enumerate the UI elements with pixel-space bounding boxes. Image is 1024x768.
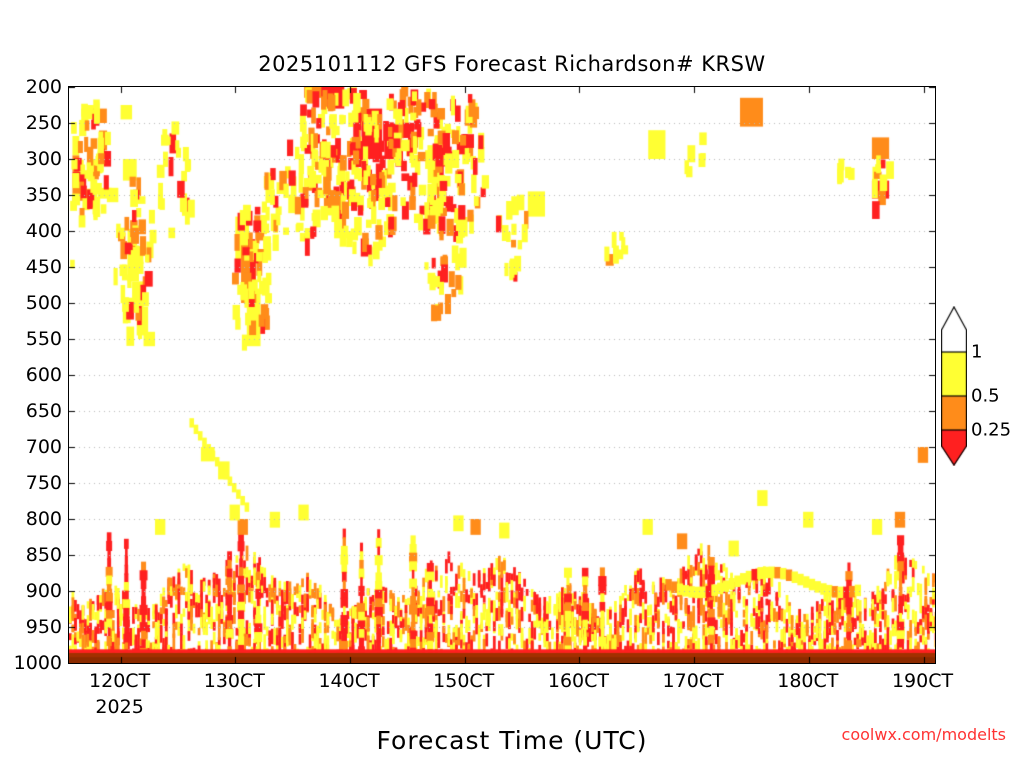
x-tick-label: 180CT — [777, 670, 838, 692]
colorbar-tick-label: 0.5 — [971, 386, 1000, 407]
x-axis-year-label: 2025 — [95, 696, 143, 718]
plot-area — [68, 86, 936, 664]
y-tick-label: 200 — [26, 76, 62, 98]
y-tick-label: 850 — [26, 544, 62, 566]
y-tick-label: 250 — [26, 112, 62, 134]
colorbar-tick-label: 1 — [971, 342, 982, 363]
y-tick-label: 500 — [26, 292, 62, 314]
y-tick-label: 700 — [26, 436, 62, 458]
y-tick-label: 800 — [26, 508, 62, 530]
y-tick-label: 750 — [26, 472, 62, 494]
y-tick-label: 600 — [26, 364, 62, 386]
x-tick-label: 130CT — [204, 670, 265, 692]
colorbar-canvas — [941, 306, 967, 466]
y-tick-label: 550 — [26, 328, 62, 350]
x-tick-label: 190CT — [892, 670, 953, 692]
y-tick-label: 650 — [26, 400, 62, 422]
x-tick-label: 150CT — [433, 670, 494, 692]
x-tick-label: 170CT — [663, 670, 724, 692]
watermark: coolwx.com/modelts — [842, 725, 1006, 744]
y-tick-label: 400 — [26, 220, 62, 242]
colorbar-tick-label: 0.25 — [971, 420, 1011, 441]
chart-page: 2025101112 GFS Forecast Richardson# KRSW… — [0, 0, 1024, 768]
colorbar: 10.50.25 — [941, 306, 967, 466]
x-tick-label: 140CT — [318, 670, 379, 692]
x-tick-label: 160CT — [548, 670, 609, 692]
y-axis: 2002503003504004505005506006507007508008… — [0, 86, 62, 664]
y-tick-label: 450 — [26, 256, 62, 278]
y-tick-label: 350 — [26, 184, 62, 206]
x-axis: 120CT130CT140CT150CT160CT170CT180CT190CT… — [68, 666, 936, 712]
x-tick-label: 120CT — [89, 670, 150, 692]
y-tick-label: 300 — [26, 148, 62, 170]
y-tick-label: 900 — [26, 580, 62, 602]
y-tick-label: 950 — [26, 616, 62, 638]
chart-title: 2025101112 GFS Forecast Richardson# KRSW — [0, 52, 1024, 76]
y-tick-label: 1000 — [14, 652, 62, 674]
heatmap-canvas — [69, 87, 935, 663]
